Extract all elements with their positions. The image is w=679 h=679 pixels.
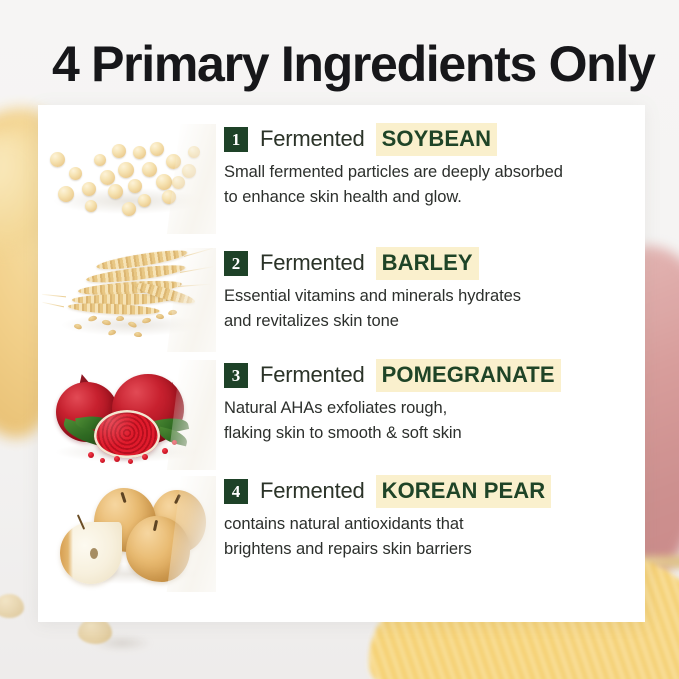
- ingredient-row-barley: 2 Fermented BARLEY Essential vitamins an…: [38, 248, 645, 352]
- pomegranate-photo: [38, 360, 216, 470]
- ingredient-copy-soybean: 1 Fermented SOYBEAN Small fermented part…: [216, 124, 645, 210]
- description-line: Natural AHAs exfoliates rough,: [224, 396, 645, 421]
- ingredient-heading: 1 Fermented SOYBEAN: [224, 124, 645, 154]
- description-line: flaking skin to smooth & soft skin: [224, 421, 645, 446]
- ingredient-description: Small fermented particles are deeply abs…: [224, 160, 645, 210]
- ingredient-row-soybean: 1 Fermented SOYBEAN Small fermented part…: [38, 124, 645, 234]
- ingredient-description: Natural AHAs exfoliates rough, flaking s…: [224, 396, 645, 446]
- ingredient-prefix: Fermented: [260, 362, 365, 388]
- ingredient-number-badge: 3: [224, 363, 248, 388]
- ingredient-name: POMEGRANATE: [376, 359, 561, 392]
- background-bean-shadow: [92, 635, 152, 651]
- ingredient-name: BARLEY: [376, 247, 479, 280]
- ingredient-heading: 4 Fermented KOREAN PEAR: [224, 476, 645, 506]
- ingredient-description: contains natural antioxidants that brigh…: [224, 512, 645, 562]
- ingredient-row-pomegranate: 3 Fermented POMEGRANATE Natural AHAs exf…: [38, 360, 645, 470]
- ingredient-prefix: Fermented: [260, 478, 365, 504]
- korean-pear-photo: [38, 476, 216, 592]
- description-line: brightens and repairs skin barriers: [224, 537, 645, 562]
- description-line: contains natural antioxidants that: [224, 512, 645, 537]
- description-line: to enhance skin health and glow.: [224, 185, 645, 210]
- ingredient-number-badge: 2: [224, 251, 248, 276]
- ingredient-number-badge: 4: [224, 479, 248, 504]
- barley-illustration: [38, 248, 216, 352]
- ingredient-prefix: Fermented: [260, 126, 365, 152]
- ingredient-heading: 3 Fermented POMEGRANATE: [224, 360, 645, 390]
- ingredient-name: SOYBEAN: [376, 123, 498, 156]
- pomegranate-illustration: [38, 360, 216, 470]
- ingredient-name: KOREAN PEAR: [376, 475, 552, 508]
- ingredient-copy-barley: 2 Fermented BARLEY Essential vitamins an…: [216, 248, 645, 334]
- page-title: 4 Primary Ingredients Only: [52, 34, 652, 94]
- korean-pear-illustration: [38, 476, 216, 592]
- ingredient-prefix: Fermented: [260, 250, 365, 276]
- ingredient-heading: 2 Fermented BARLEY: [224, 248, 645, 278]
- ingredient-copy-pomegranate: 3 Fermented POMEGRANATE Natural AHAs exf…: [216, 360, 645, 446]
- description-line: and revitalizes skin tone: [224, 309, 645, 334]
- background-bean-2: [0, 594, 24, 618]
- ingredient-description: Essential vitamins and minerals hydrates…: [224, 284, 645, 334]
- ingredient-number-badge: 1: [224, 127, 248, 152]
- soybeans-photo: [38, 124, 216, 234]
- description-line: Small fermented particles are deeply abs…: [224, 160, 645, 185]
- barley-stalks-photo: [38, 248, 216, 352]
- description-line: Essential vitamins and minerals hydrates: [224, 284, 645, 309]
- product-infographic: 4 Primary Ingredients Only: [0, 0, 679, 679]
- ingredient-copy-korean-pear: 4 Fermented KOREAN PEAR contains natural…: [216, 476, 645, 562]
- soybeans-illustration: [38, 124, 216, 234]
- ingredient-row-korean-pear: 4 Fermented KOREAN PEAR contains natural…: [38, 476, 645, 592]
